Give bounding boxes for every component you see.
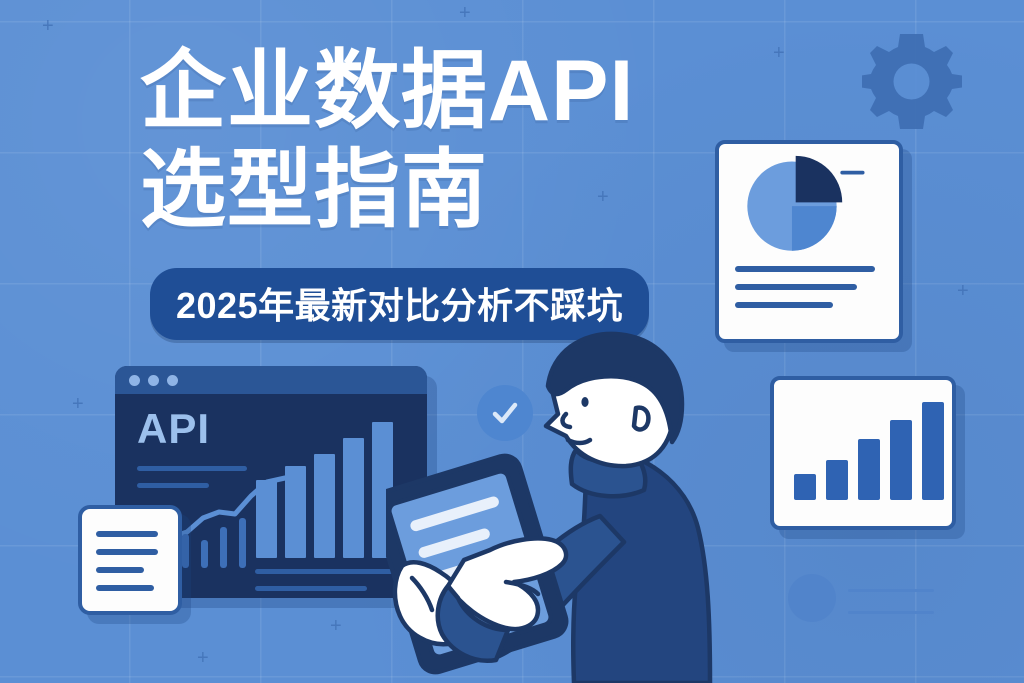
card-text-line — [735, 302, 833, 308]
window-text-line — [255, 586, 367, 591]
headline-line-2: 选型指南 — [140, 141, 760, 240]
decorative-line — [848, 589, 934, 592]
mini-bar — [239, 518, 246, 568]
page-title: 企业数据API 选型指南 — [140, 42, 760, 240]
pie-chart-card[interactable] — [715, 140, 903, 343]
plus-mark-icon: + — [957, 281, 969, 301]
window-dot-maximize-icon[interactable] — [167, 375, 178, 386]
bar — [285, 466, 306, 558]
decorative-circle — [788, 574, 836, 622]
plus-mark-icon: + — [459, 3, 471, 23]
mini-bar — [182, 534, 189, 568]
decorative-line — [848, 611, 934, 614]
card-text-line — [96, 531, 158, 537]
plus-mark-icon: + — [330, 616, 342, 636]
card-text-line — [735, 266, 875, 272]
window-text-line — [255, 569, 403, 574]
bar — [794, 474, 816, 500]
headline-line-1: 企业数据API — [140, 43, 634, 139]
document-card[interactable] — [78, 505, 182, 615]
bar — [922, 402, 944, 500]
bar — [314, 454, 335, 558]
window-dot-close-icon[interactable] — [129, 375, 140, 386]
api-label: API — [137, 408, 210, 450]
card-text-line — [735, 284, 857, 290]
person-illustration — [386, 330, 746, 683]
bar — [343, 438, 364, 558]
bar — [858, 439, 880, 500]
bar — [826, 460, 848, 500]
plus-mark-icon: + — [72, 394, 84, 414]
gear-icon — [862, 30, 962, 130]
plus-mark-icon: + — [197, 648, 209, 668]
bar — [890, 420, 912, 500]
plus-mark-icon: + — [42, 16, 54, 36]
pie-chart — [725, 152, 885, 264]
plus-mark-icon: + — [773, 43, 785, 63]
poster-canvas: + + + + + + + + 企业数据API 选型指南 2025年最新对比分析… — [0, 0, 1024, 683]
card-text-line — [96, 585, 154, 591]
window-dot-minimize-icon[interactable] — [148, 375, 159, 386]
bar — [256, 480, 277, 558]
card-text-line — [96, 567, 144, 573]
window-titlebar — [115, 366, 427, 394]
mini-bar — [220, 527, 227, 568]
bar-chart-card[interactable] — [770, 376, 956, 530]
mini-bar — [201, 540, 208, 568]
card-text-line — [96, 549, 158, 555]
